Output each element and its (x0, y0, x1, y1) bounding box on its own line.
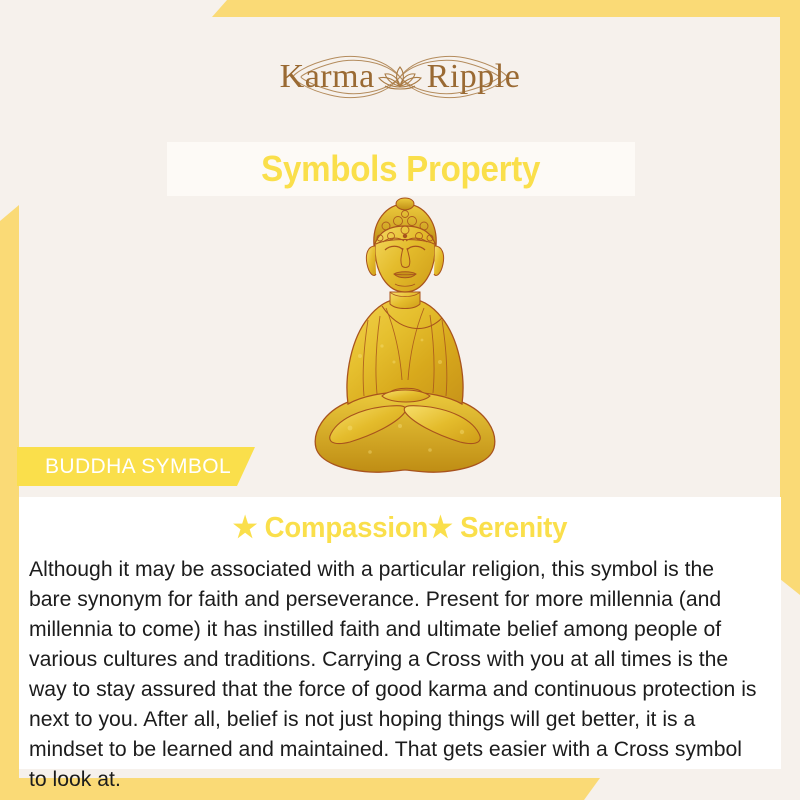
title-banner: Symbols Property (167, 142, 635, 196)
buddha-statue-icon (290, 196, 520, 486)
brand-logo-inner: Karma Ripple (235, 43, 565, 111)
brand-wordmark: Karma Ripple (280, 58, 521, 96)
content-paragraph: Although it may be associated with a par… (29, 554, 760, 794)
page-title: Symbols Property (261, 148, 540, 190)
poster-canvas: Karma Ripple Symbols Property (0, 0, 800, 800)
decor-top-band (212, 0, 800, 17)
brand-logo: Karma Ripple (0, 42, 800, 112)
section-ribbon: BUDDHA SYMBOL (17, 447, 255, 486)
content-panel: ★ Compassion★ Serenity Although it may b… (19, 497, 781, 769)
brand-name-left: Karma (280, 58, 375, 96)
decor-left-strip (0, 205, 19, 785)
buddha-statue-image (290, 196, 520, 486)
brand-name-right: Ripple (427, 58, 521, 96)
ribbon-label: BUDDHA SYMBOL (17, 455, 231, 479)
content-subtitle: ★ Compassion★ Serenity (38, 510, 762, 545)
